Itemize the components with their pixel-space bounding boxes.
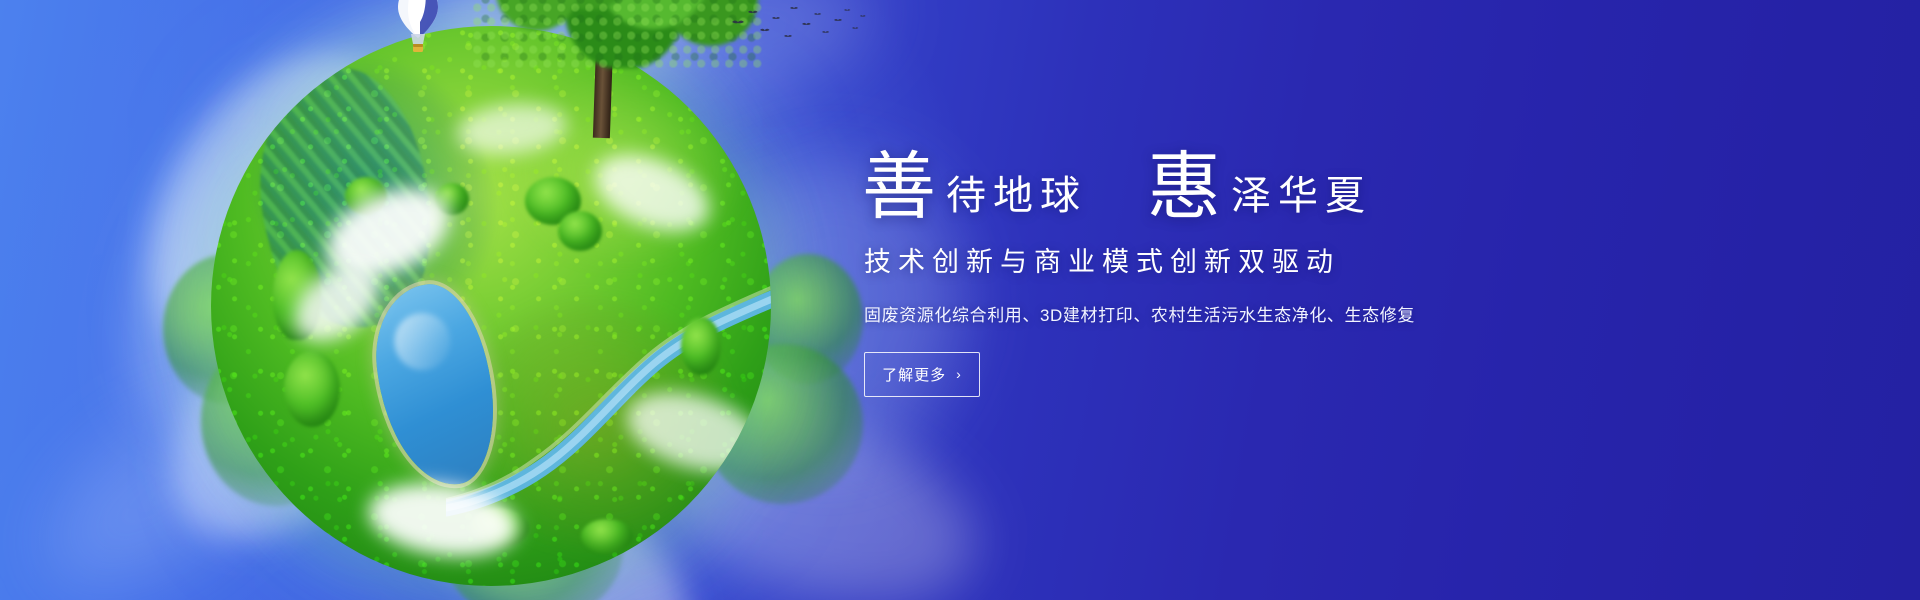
description: 固废资源化综合利用、3D建材打印、农村生活污水生态净化、生态修复	[864, 301, 1682, 326]
bird-flock-icon	[728, 2, 868, 48]
headline: 善 待地球 惠 泽华夏	[862, 140, 1682, 224]
tree-cluster	[558, 211, 602, 251]
tree-cluster	[284, 351, 340, 427]
hero-content: 善 待地球 惠 泽华夏 技术创新与商业模式创新双驱动 固废资源化综合利用、3D建…	[862, 140, 1682, 397]
chevron-right-icon: ›	[956, 367, 962, 381]
hero-banner: 善 待地球 惠 泽华夏 技术创新与商业模式创新双驱动 固废资源化综合利用、3D建…	[0, 0, 1920, 600]
headline-small-chars-1: 待地球	[936, 176, 1087, 224]
large-tree	[473, 0, 763, 148]
hot-air-balloon-icon	[395, 0, 441, 58]
headline-big-char-1: 善	[862, 153, 936, 224]
river-path-icon	[446, 272, 771, 518]
lake-highlight	[392, 310, 454, 372]
river	[446, 272, 771, 518]
globe-illustration	[143, 0, 843, 600]
subtitle: 技术创新与商业模式创新双驱动	[864, 240, 1682, 279]
headline-phrase-2: 惠 泽华夏	[1147, 153, 1372, 224]
headline-small-chars-2: 泽华夏	[1221, 176, 1372, 224]
learn-more-button[interactable]: 了解更多 ›	[864, 352, 980, 397]
headline-phrase-1: 善 待地球	[862, 153, 1087, 224]
tree-leaf-texture	[473, 0, 763, 68]
tree-cluster	[581, 519, 633, 553]
learn-more-label: 了解更多	[882, 364, 946, 385]
headline-big-char-2: 惠	[1147, 153, 1221, 224]
